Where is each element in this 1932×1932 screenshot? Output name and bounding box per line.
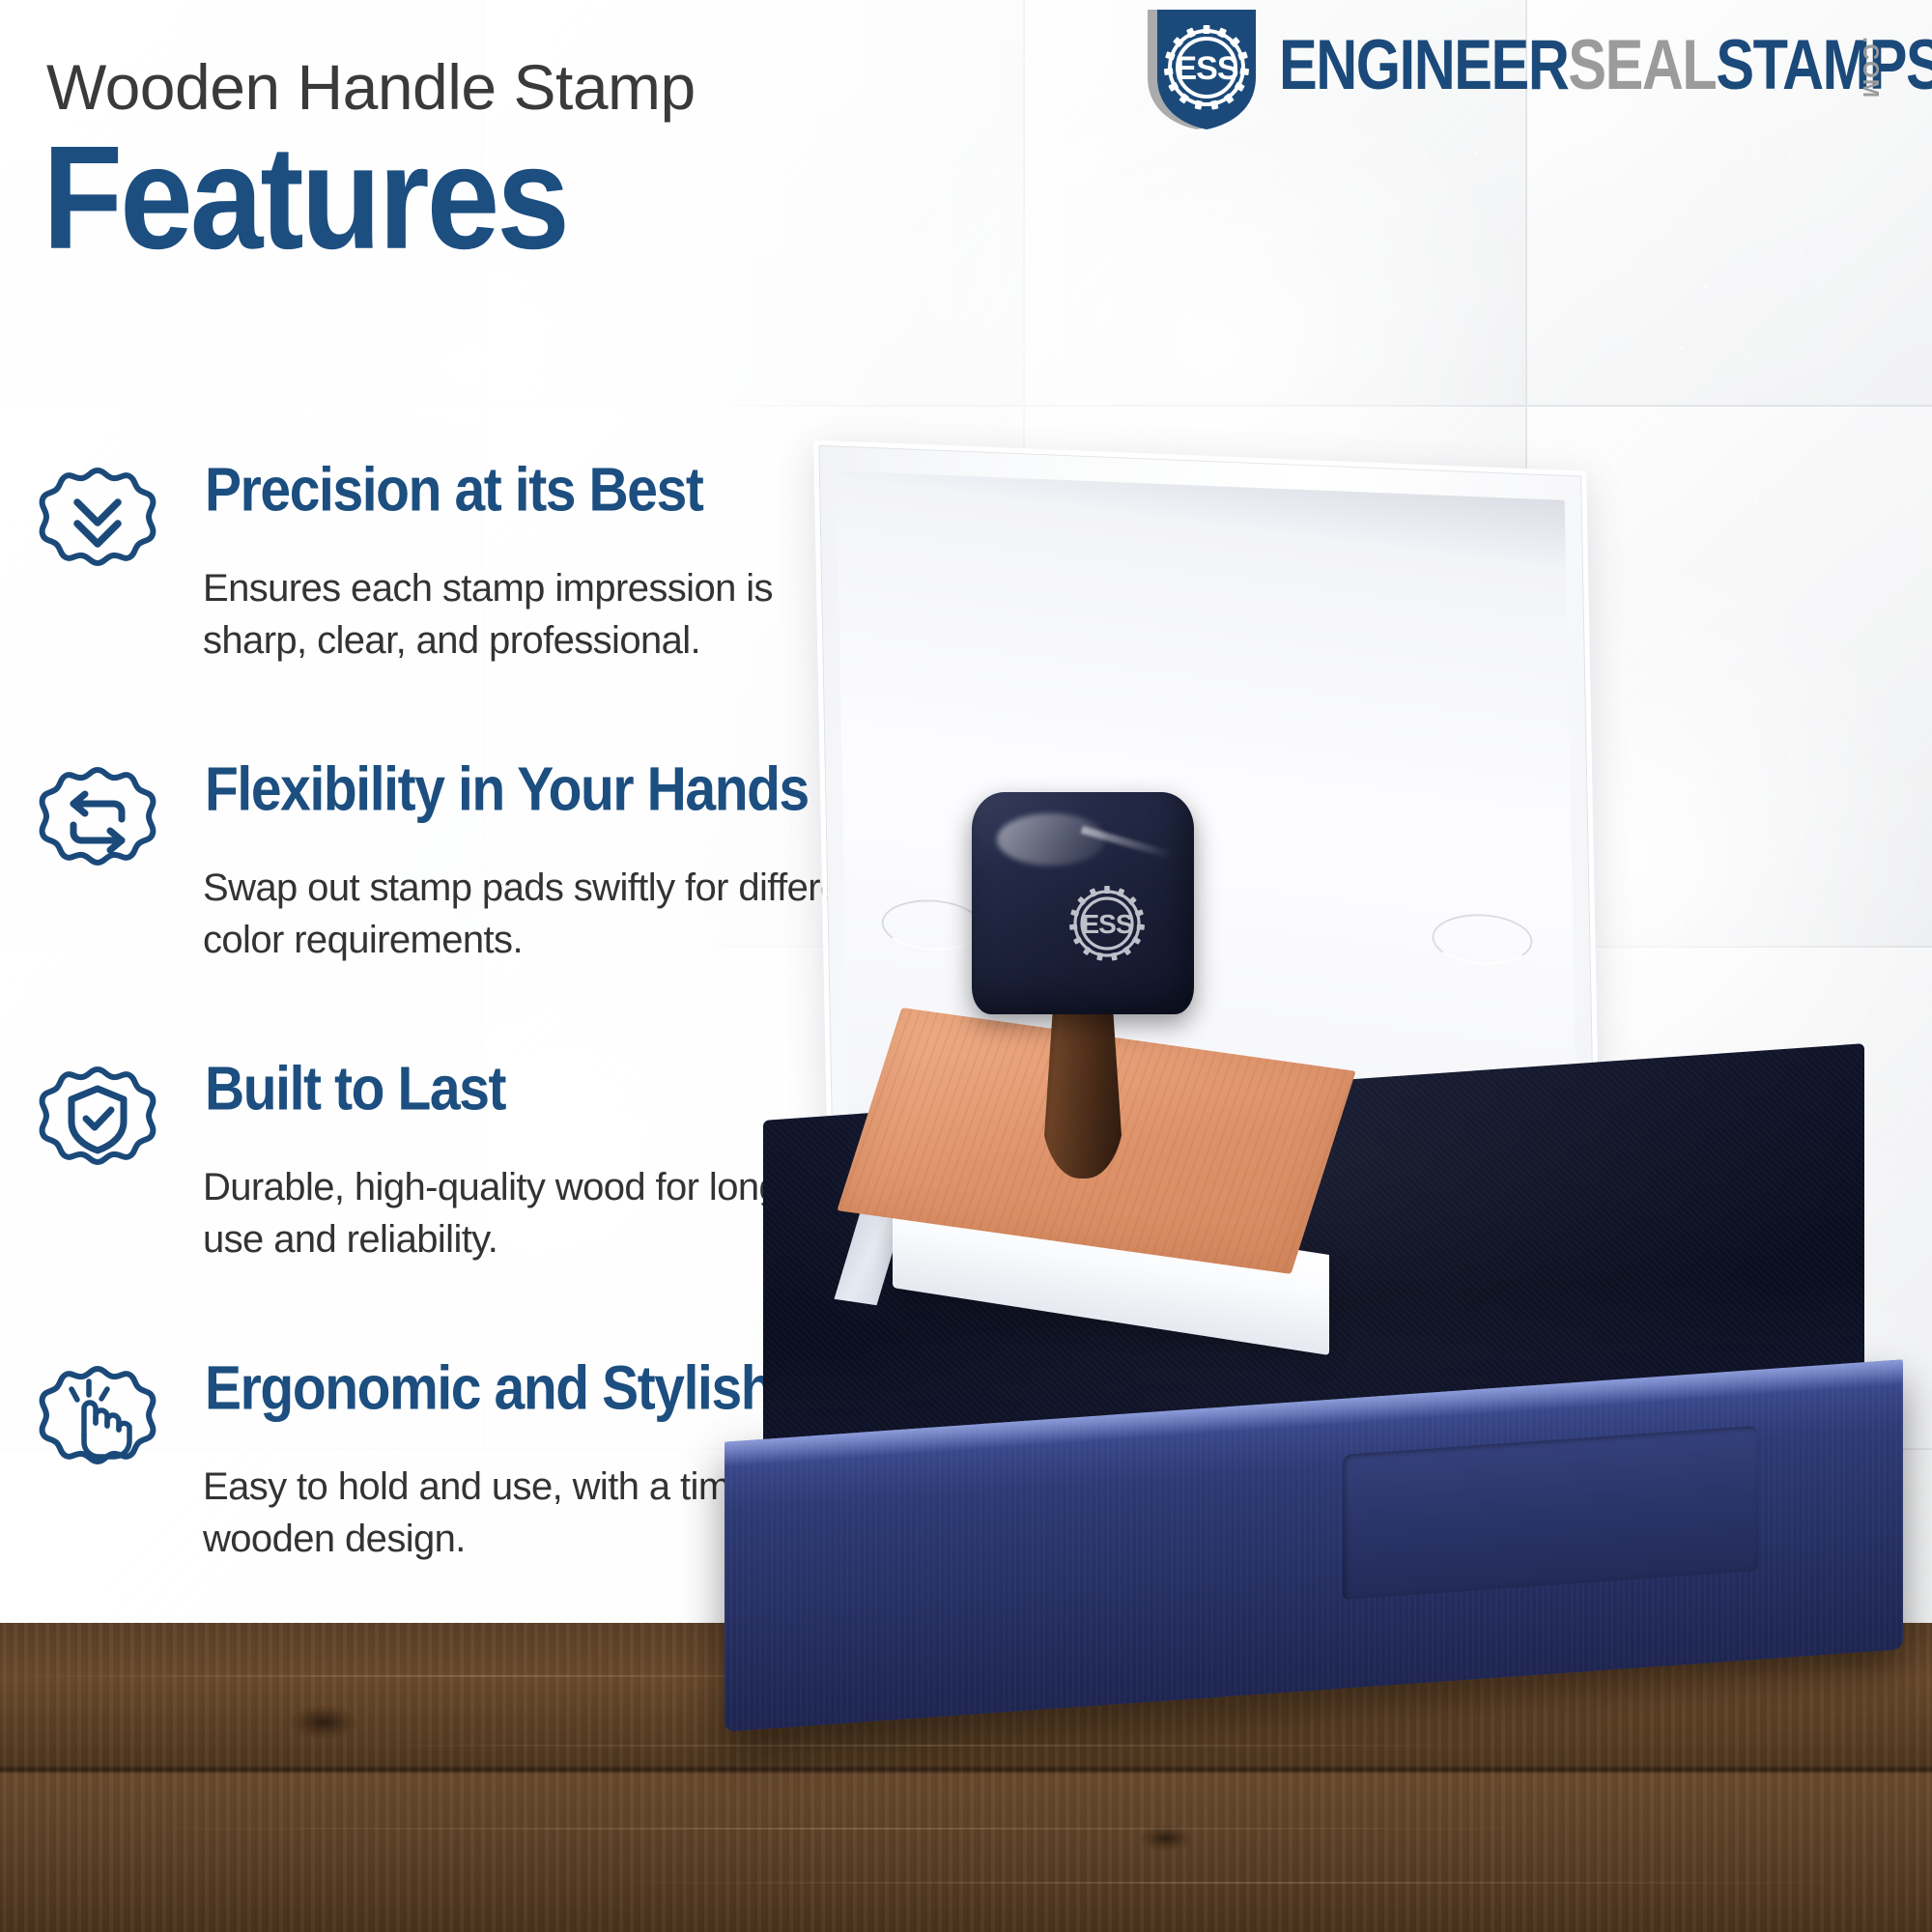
- knob-highlight: [997, 813, 1105, 866]
- box-thumb-notch: [1343, 1426, 1758, 1600]
- brand-word-engineer: ENGINEER: [1279, 26, 1568, 104]
- ess-shield-gear-icon: ESS: [1132, 8, 1273, 131]
- page-kicker: Wooden Handle Stamp: [46, 50, 696, 124]
- ess-mark-text: ESS: [1175, 50, 1237, 87]
- stamp-handle: ESS: [966, 792, 1198, 1188]
- page-title: Features: [43, 124, 567, 270]
- brand-wordmark: ENGINEERSEALSTAMPS: [1279, 31, 1932, 101]
- brand-logo[interactable]: ESS ENGINEERSEALSTAMPS .COM: [1132, 8, 1917, 133]
- knob-ess-text: ESS: [1081, 909, 1132, 939]
- shield-check-badge-icon: [39, 1053, 156, 1180]
- stamp-handle-knob: ESS: [972, 792, 1194, 1014]
- infographic-canvas: Wooden Handle Stamp Features: [0, 0, 1932, 1932]
- feature-title: Flexibility in Your Hands: [205, 759, 809, 821]
- brand-word-seal: SEAL: [1568, 26, 1716, 104]
- feature-title: Ergonomic and Stylish: [205, 1358, 773, 1420]
- feature-title: Precision at its Best: [205, 460, 702, 522]
- feature-description: Swap out stamp pads swiftly for differen…: [203, 862, 879, 967]
- tap-hand-badge-icon: [39, 1352, 156, 1480]
- double-chevron-down-badge-icon: [39, 454, 156, 582]
- brand-word-stamps: STAMPS: [1716, 26, 1932, 104]
- product-photo: ESS: [927, 502, 1932, 1758]
- feature-description: Ensures each stamp impression is sharp, …: [203, 562, 879, 668]
- knob-ess-gear-icon: ESS: [1057, 873, 1157, 974]
- swap-arrows-badge-icon: [39, 753, 156, 881]
- feature-title: Built to Last: [205, 1059, 505, 1121]
- brand-tld: .COM: [1858, 37, 1884, 99]
